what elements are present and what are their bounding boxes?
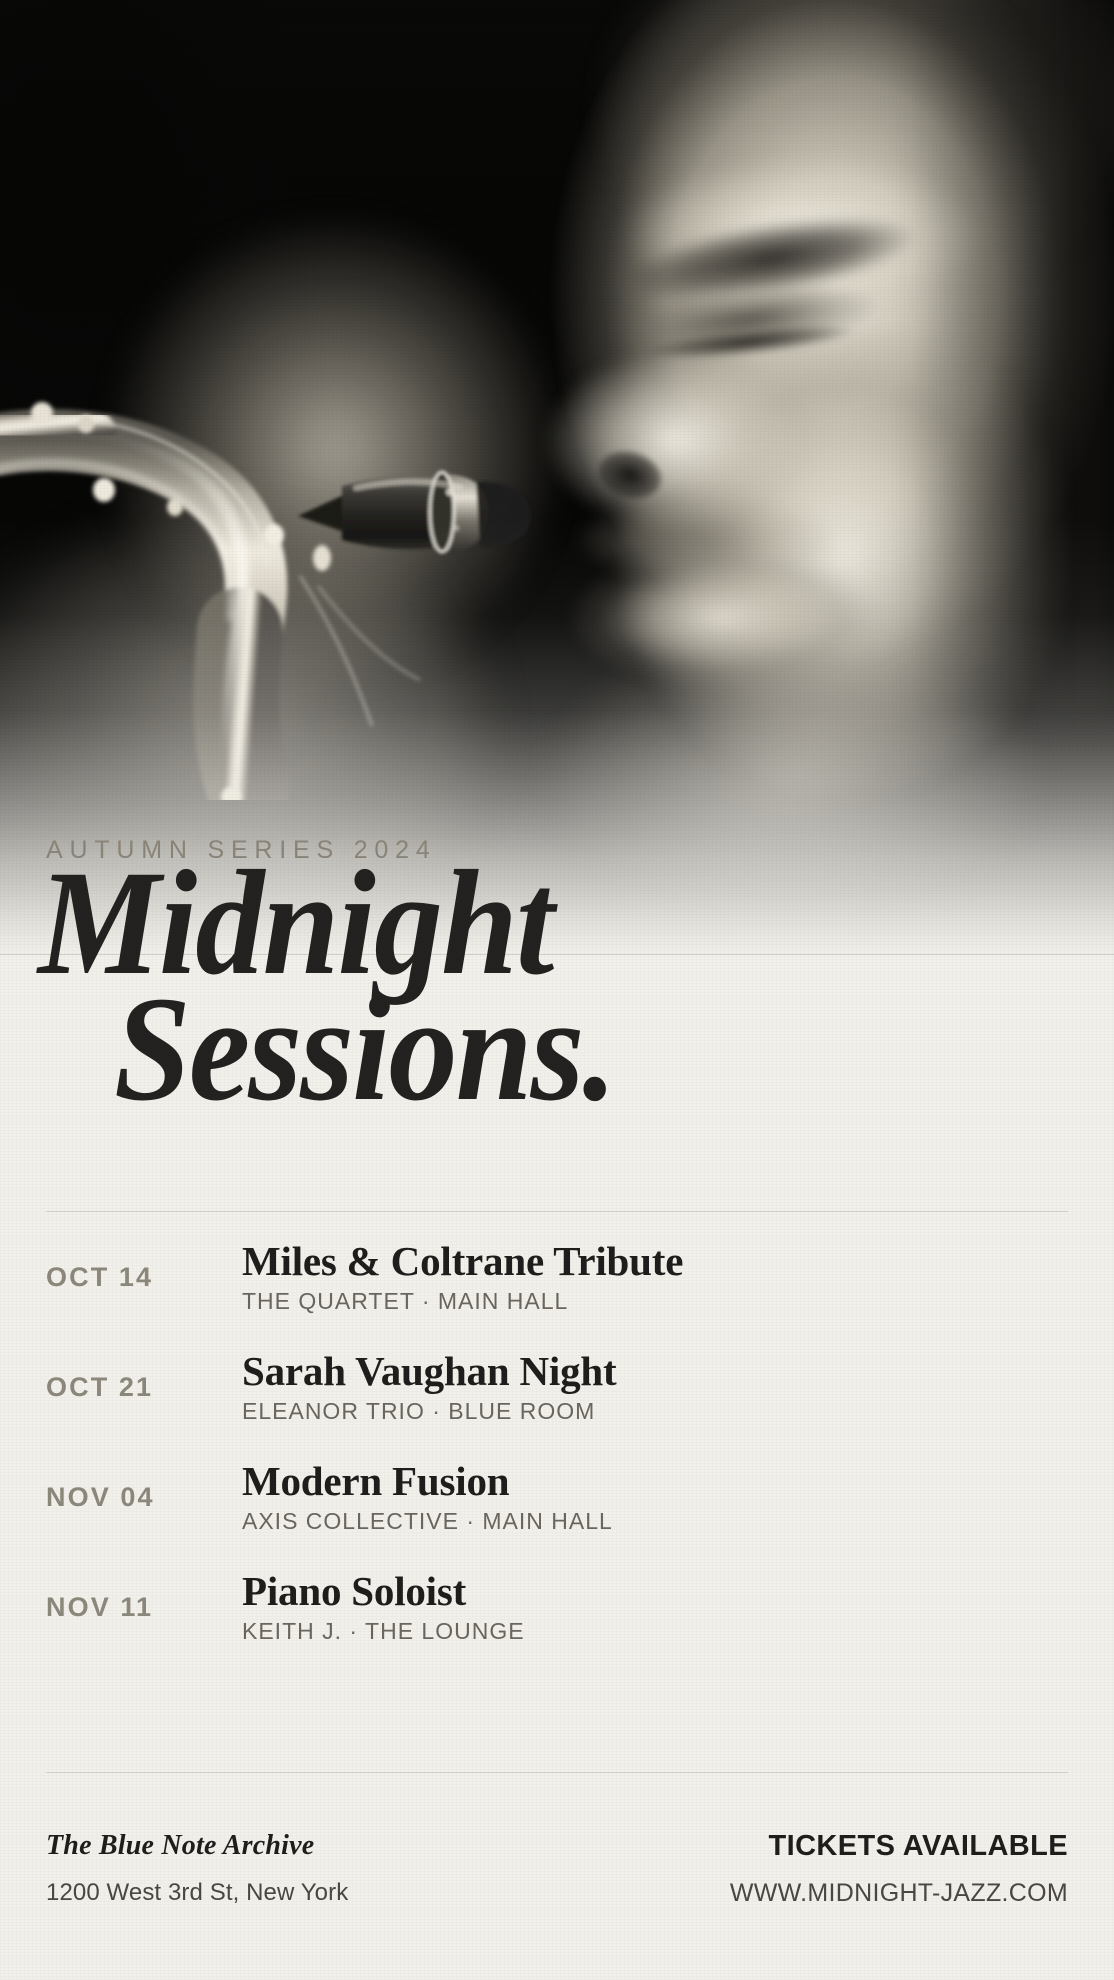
event-date: OCT 14 bbox=[46, 1262, 153, 1293]
event-details: Piano Soloist KEITH J. · THE LOUNGE bbox=[242, 1570, 1074, 1645]
poster-footer: The Blue Note Archive 1200 West 3rd St, … bbox=[0, 1830, 1114, 1980]
tickets-info: TICKETS AVAILABLE WWW.MIDNIGHT-JAZZ.COM bbox=[730, 1830, 1068, 1908]
event-row[interactable]: NOV 04 Modern Fusion AXIS COLLECTIVE · M… bbox=[0, 1460, 1114, 1570]
event-title: Sarah Vaughan Night bbox=[242, 1350, 1074, 1393]
event-meta: THE QUARTET · MAIN HALL bbox=[242, 1288, 1074, 1315]
event-title: Miles & Coltrane Tribute bbox=[242, 1240, 1074, 1283]
event-details: Miles & Coltrane Tribute THE QUARTET · M… bbox=[242, 1240, 1074, 1315]
venue-address: 1200 West 3rd St, New York bbox=[46, 1879, 348, 1907]
event-title: Modern Fusion bbox=[242, 1460, 1074, 1503]
event-row[interactable]: OCT 21 Sarah Vaughan Night ELEANOR TRIO … bbox=[0, 1350, 1114, 1460]
event-date: NOV 11 bbox=[46, 1592, 153, 1623]
event-schedule-list: OCT 14 Miles & Coltrane Tribute THE QUAR… bbox=[0, 1240, 1114, 1680]
jazz-event-poster: AUTUMN SERIES 2024 Midnight Sessions. OC… bbox=[0, 0, 1114, 1980]
event-date: NOV 04 bbox=[46, 1482, 155, 1513]
venue-name: The Blue Note Archive bbox=[46, 1830, 348, 1862]
venue-info: The Blue Note Archive 1200 West 3rd St, … bbox=[46, 1830, 348, 1907]
tickets-available-label: TICKETS AVAILABLE bbox=[730, 1830, 1068, 1863]
divider-above-schedule bbox=[46, 1211, 1068, 1212]
event-meta: KEITH J. · THE LOUNGE bbox=[242, 1618, 1074, 1645]
event-meta: ELEANOR TRIO · BLUE ROOM bbox=[242, 1398, 1074, 1425]
event-meta: AXIS COLLECTIVE · MAIN HALL bbox=[242, 1508, 1074, 1535]
event-details: Modern Fusion AXIS COLLECTIVE · MAIN HAL… bbox=[242, 1460, 1074, 1535]
event-row[interactable]: NOV 11 Piano Soloist KEITH J. · THE LOUN… bbox=[0, 1570, 1114, 1680]
hero-photo-saxophonist bbox=[0, 0, 1114, 955]
page-title-line-2: Sessions. bbox=[114, 986, 1001, 1112]
event-title: Piano Soloist bbox=[242, 1570, 1074, 1613]
event-row[interactable]: OCT 14 Miles & Coltrane Tribute THE QUAR… bbox=[0, 1240, 1114, 1350]
page-title: Midnight Sessions. bbox=[38, 860, 1078, 1112]
divider-below-schedule bbox=[46, 1772, 1068, 1773]
event-details: Sarah Vaughan Night ELEANOR TRIO · BLUE … bbox=[242, 1350, 1074, 1425]
tickets-website-url[interactable]: WWW.MIDNIGHT-JAZZ.COM bbox=[730, 1879, 1068, 1908]
saxophone-mouthpiece bbox=[290, 430, 590, 590]
event-date: OCT 21 bbox=[46, 1372, 153, 1403]
